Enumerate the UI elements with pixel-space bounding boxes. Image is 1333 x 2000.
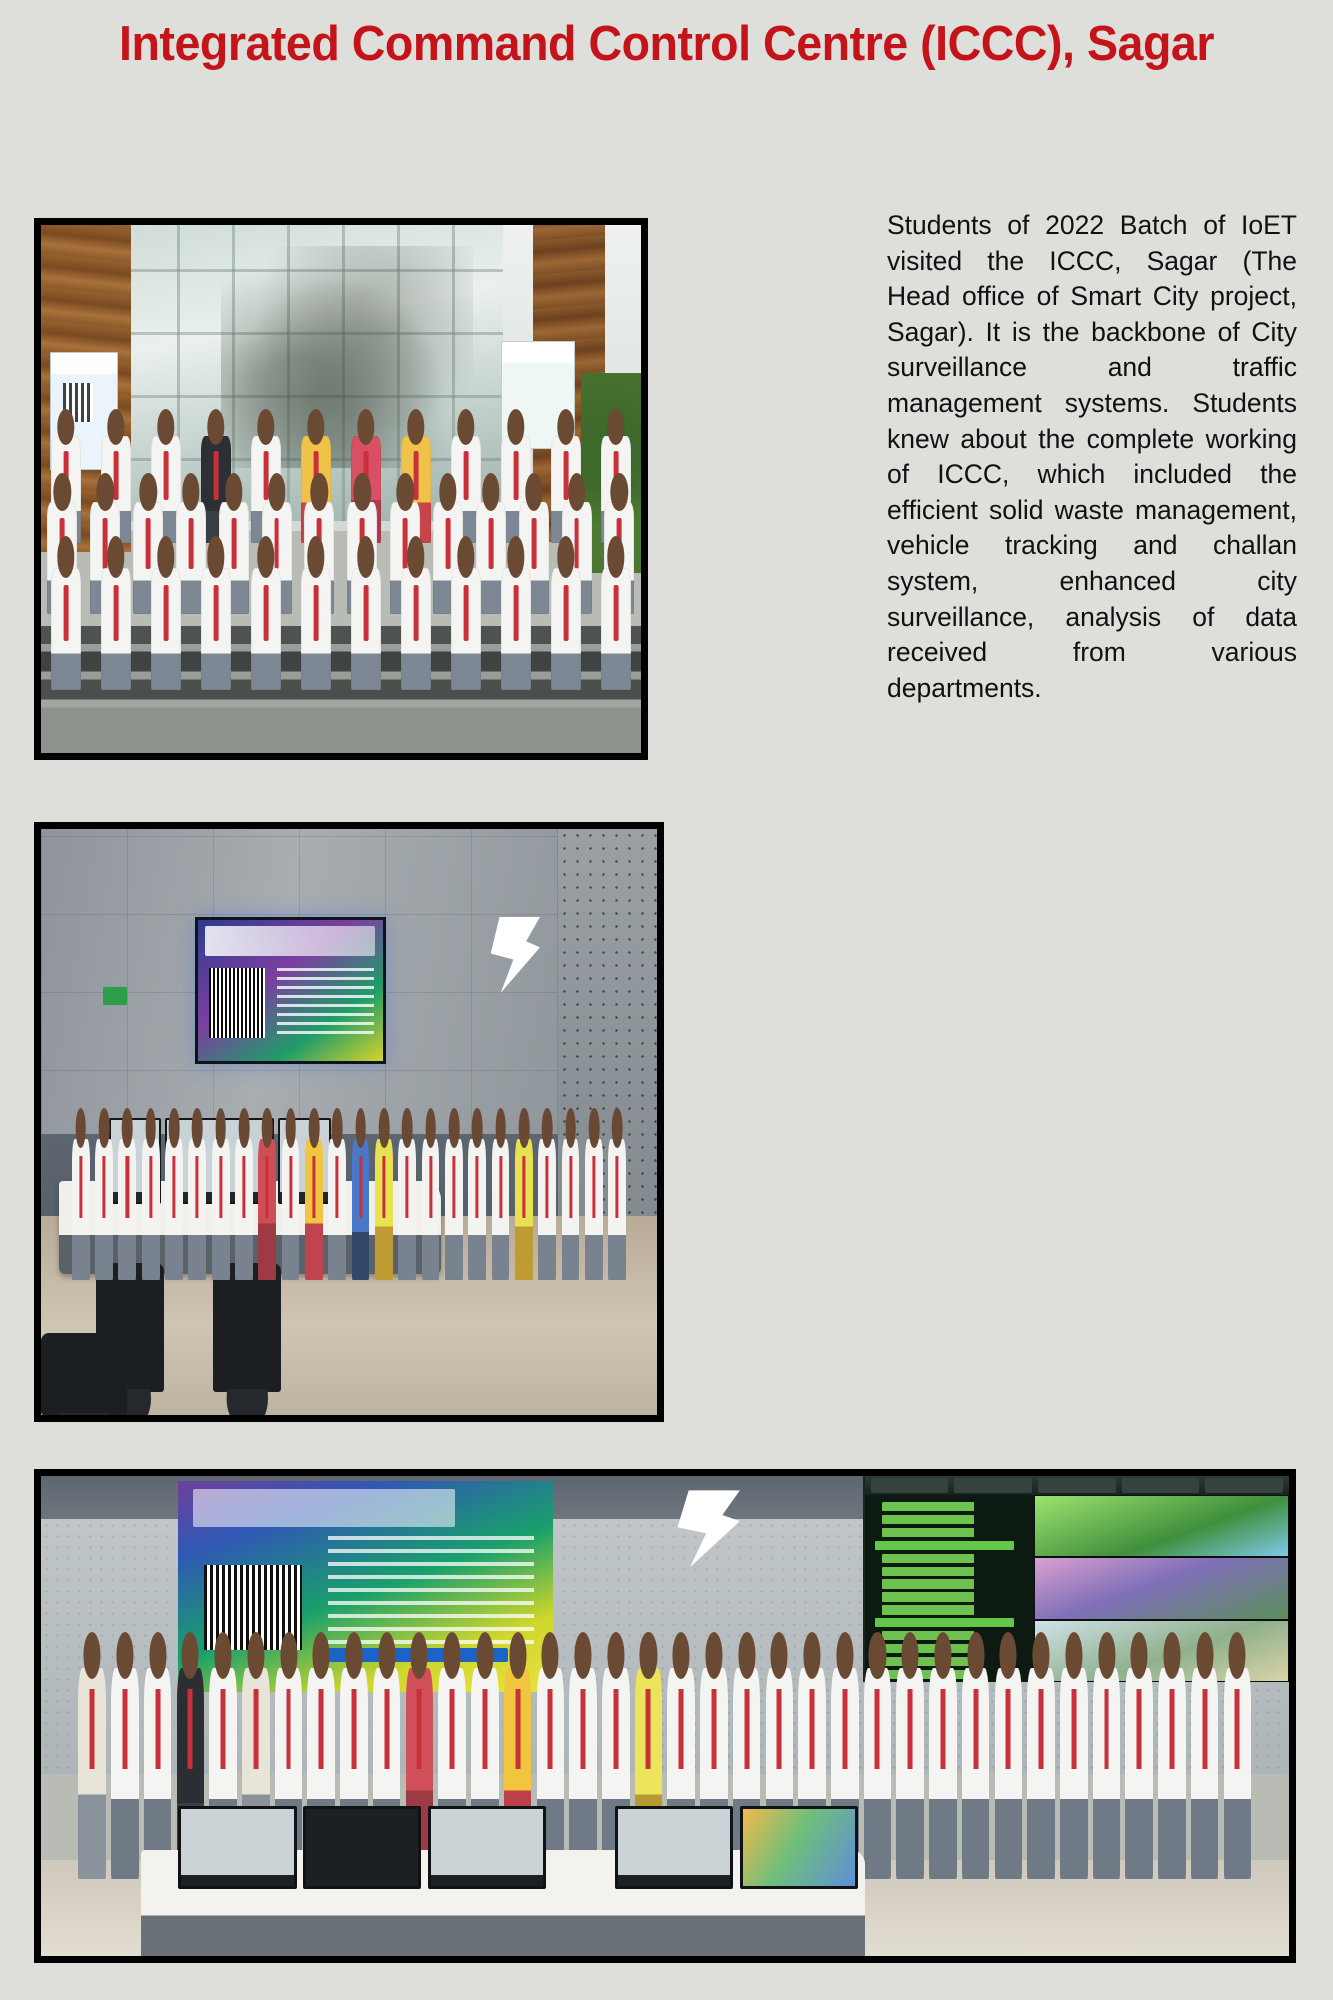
exit-sign-icon	[103, 987, 128, 1005]
vms-tree-node	[882, 1579, 1031, 1588]
person	[995, 1668, 1023, 1879]
vms-tree-node	[882, 1528, 1031, 1537]
person	[235, 1139, 253, 1280]
office-chair	[41, 1333, 127, 1415]
people-row-front	[41, 568, 641, 690]
person	[351, 568, 381, 690]
camera-feed	[1034, 1495, 1289, 1558]
photo-group-entrance-image	[41, 225, 641, 753]
person	[212, 1139, 230, 1280]
person	[398, 1139, 416, 1280]
video-wall-poster-heading	[205, 926, 375, 957]
person	[401, 568, 431, 690]
person	[95, 1139, 113, 1280]
person	[1125, 1668, 1153, 1879]
vms-tab-live	[871, 1478, 949, 1493]
person	[258, 1139, 276, 1280]
person	[111, 1668, 139, 1879]
vms-tree-node	[882, 1502, 1031, 1511]
person	[538, 1139, 556, 1280]
video-wall-display	[195, 917, 386, 1064]
person	[101, 568, 131, 690]
projection-poster-text	[328, 1536, 534, 1646]
person	[608, 1139, 626, 1280]
person	[585, 1139, 603, 1280]
photo-group-entrance	[34, 218, 648, 760]
person	[501, 568, 531, 690]
person	[1093, 1668, 1121, 1879]
person	[251, 568, 281, 690]
person	[78, 1668, 106, 1879]
office-chair	[213, 1263, 281, 1392]
person	[551, 568, 581, 690]
person	[201, 568, 231, 690]
group-of-people	[41, 436, 641, 689]
person	[451, 568, 481, 690]
monitor	[740, 1806, 858, 1889]
person	[118, 1139, 136, 1280]
person	[282, 1139, 300, 1280]
person	[1158, 1668, 1186, 1879]
vms-tree-node-selected	[875, 1618, 1014, 1627]
photo-control-room-wide-image	[41, 829, 657, 1415]
person	[445, 1139, 463, 1280]
vms-tab-system-monitor	[1205, 1478, 1283, 1493]
qr-code-icon	[209, 968, 264, 1038]
group-of-people	[72, 1116, 626, 1280]
person	[515, 1139, 533, 1280]
vms-tree-node-selected	[875, 1541, 1014, 1550]
person	[1191, 1668, 1219, 1879]
page-title: Integrated Command Control Centre (ICCC)…	[33, 16, 1299, 72]
vms-tree-node	[882, 1567, 1031, 1576]
person	[492, 1139, 510, 1280]
video-wall-poster-text	[277, 968, 373, 1038]
person	[72, 1139, 90, 1280]
vms-tree-node	[882, 1515, 1031, 1524]
person	[1060, 1668, 1088, 1879]
person	[422, 1139, 440, 1280]
vms-tree-node	[882, 1554, 1031, 1563]
person	[601, 568, 631, 690]
person	[142, 1139, 160, 1280]
person	[468, 1139, 486, 1280]
vms-toolbar	[865, 1476, 1289, 1495]
vms-tab-playback	[954, 1478, 1032, 1493]
person	[562, 1139, 580, 1280]
visit-description-paragraph: Students of 2022 Batch of IoET visited t…	[887, 208, 1297, 706]
monitor	[428, 1806, 546, 1889]
person	[929, 1668, 957, 1879]
photo-control-room-panorama-image	[41, 1476, 1289, 1956]
person	[352, 1139, 370, 1280]
monitor	[615, 1806, 733, 1889]
photo-control-room-panorama	[34, 1469, 1296, 1963]
photo-control-room-wide	[34, 822, 664, 1422]
vms-tab-search	[1038, 1478, 1116, 1493]
person	[1224, 1668, 1252, 1879]
person	[569, 1668, 597, 1879]
camera-feed	[1034, 1557, 1289, 1620]
person	[305, 1139, 323, 1280]
monitor	[178, 1806, 296, 1889]
person	[301, 568, 331, 690]
person	[165, 1139, 183, 1280]
vms-tab-alarm-manager	[1122, 1478, 1200, 1493]
person	[188, 1139, 206, 1280]
vms-tree-node	[882, 1605, 1031, 1614]
person	[1027, 1668, 1055, 1879]
person	[51, 568, 81, 690]
person	[151, 568, 181, 690]
person	[896, 1668, 924, 1879]
person	[962, 1668, 990, 1879]
vms-tree-node	[882, 1592, 1031, 1601]
monitor	[303, 1806, 421, 1889]
person	[328, 1139, 346, 1280]
projection-poster-heading	[193, 1489, 455, 1527]
person	[375, 1139, 393, 1280]
person	[144, 1668, 172, 1879]
person	[864, 1668, 892, 1879]
